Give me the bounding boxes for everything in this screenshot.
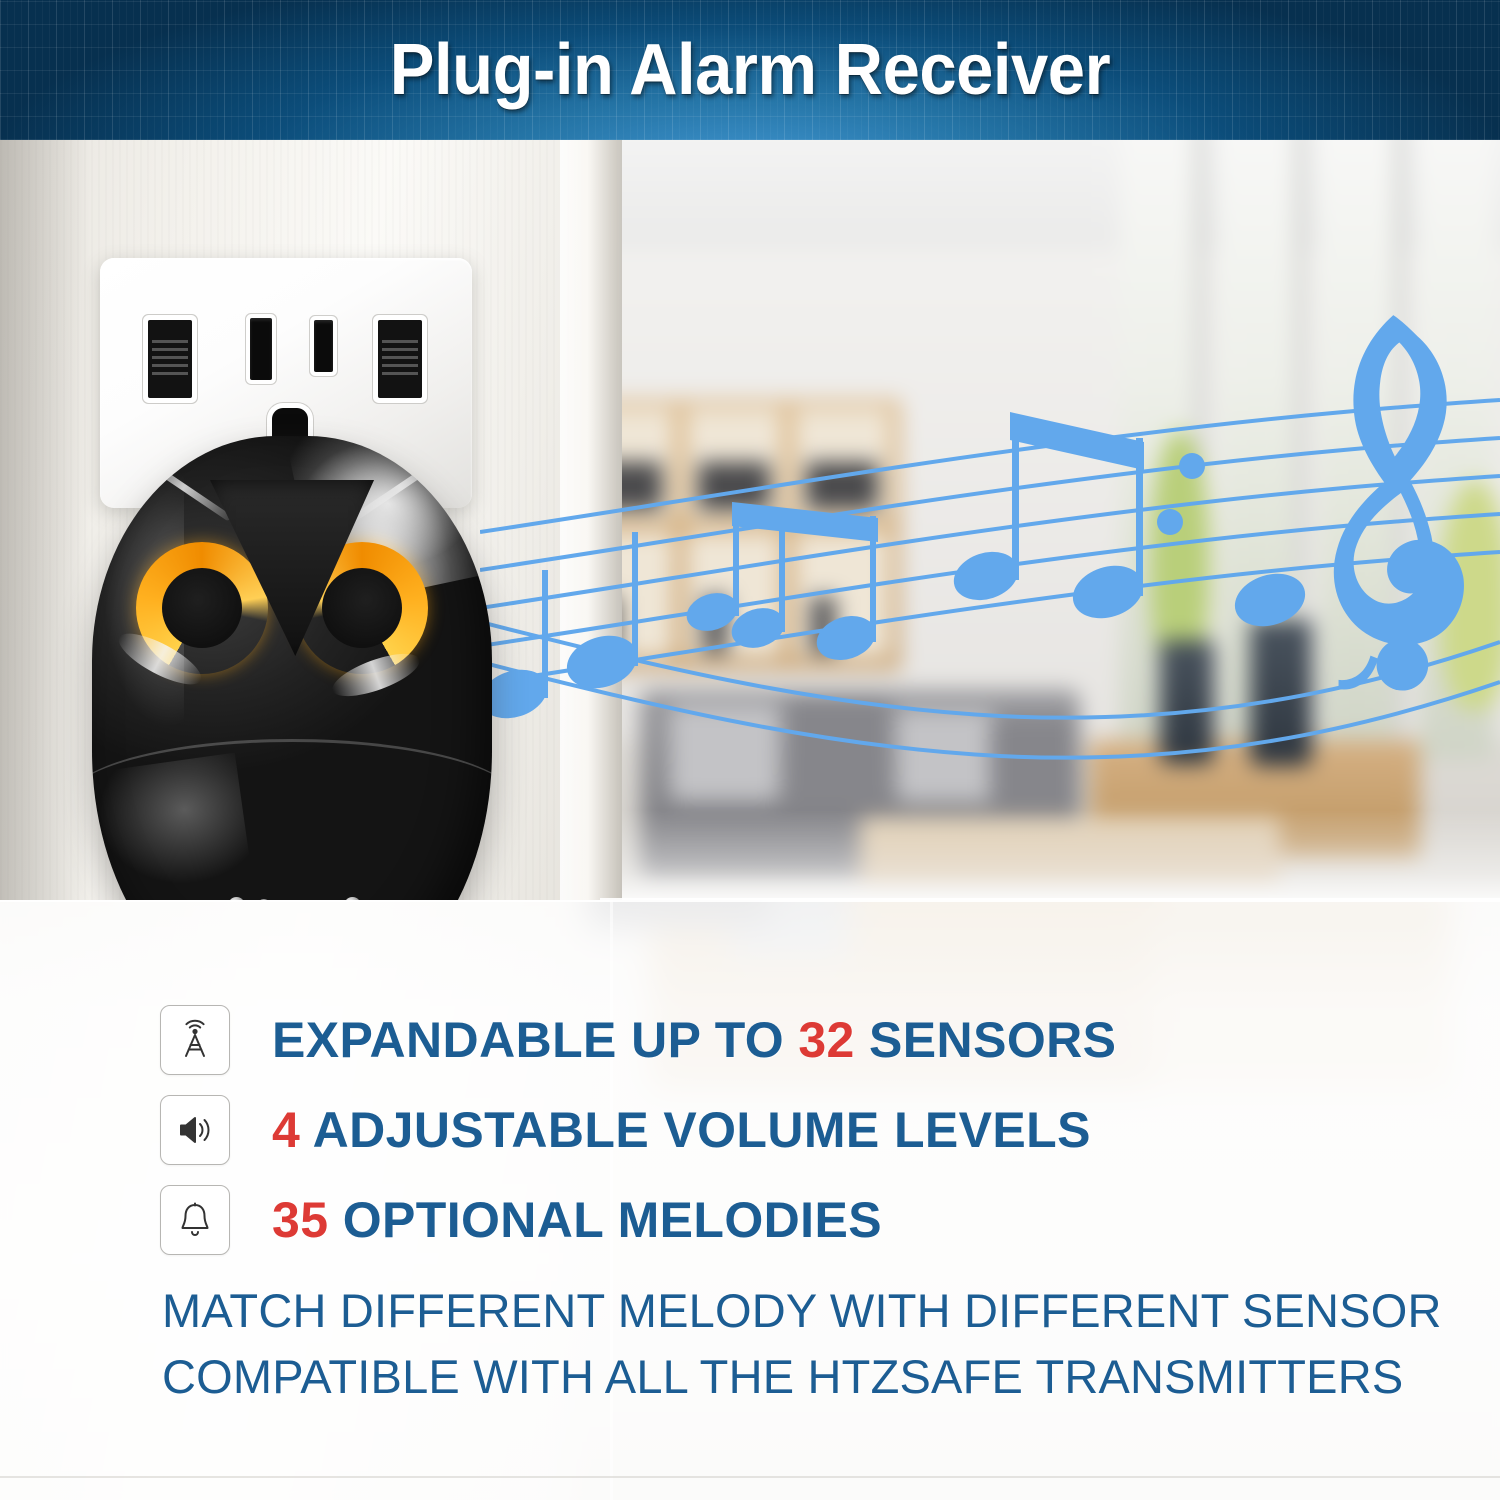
feature-row-volume: 4 ADJUSTABLE VOLUME LEVELS	[160, 1085, 1460, 1175]
cushion	[670, 705, 780, 801]
features-section: EXPANDABLE UP TO 32 SENSORS 4 ADJUSTABLE…	[0, 900, 1500, 1500]
feature-row-sensors: EXPANDABLE UP TO 32 SENSORS	[160, 995, 1460, 1085]
vase	[1160, 640, 1214, 764]
tagline-compatibility: COMPATIBLE WITH ALL THE HTZSAFE TRANSMIT…	[162, 1344, 1482, 1410]
bell-icon	[160, 1185, 230, 1255]
vase	[1250, 620, 1312, 766]
features-bottom-divider	[0, 1476, 1500, 1478]
room-photo-layers	[600, 140, 1500, 900]
cushion	[990, 718, 1076, 804]
ac-blade-slot-left	[250, 318, 272, 380]
cushion	[896, 710, 996, 802]
plant	[1440, 480, 1500, 710]
room-bottom-fade	[600, 810, 1500, 900]
page-title: Plug-in Alarm Receiver	[53, 26, 1448, 114]
wall-shadow	[0, 140, 90, 900]
hero-section	[0, 140, 1500, 900]
usb-pins	[382, 340, 418, 376]
owl-body	[92, 436, 492, 900]
feature-text-sensors: EXPANDABLE UP TO 32 SENSORS	[272, 1010, 1116, 1070]
product-infographic: Plug-in Alarm Receiver	[0, 0, 1500, 1500]
speaker-volume-icon	[160, 1095, 230, 1165]
ac-blade-slot-right	[314, 320, 333, 372]
tagline-block: MATCH DIFFERENT MELODY WITH DIFFERENT SE…	[162, 1278, 1482, 1410]
living-room-photo	[600, 140, 1500, 900]
owl-belly-highlight	[92, 753, 252, 895]
usb-pins	[152, 340, 188, 376]
features-top-divider	[0, 900, 1500, 902]
cushion	[786, 698, 890, 802]
feature-row-melodies: 35 OPTIONAL MELODIES	[160, 1175, 1460, 1265]
wall-corner-edge	[560, 140, 622, 900]
header-banner: Plug-in Alarm Receiver	[0, 0, 1500, 140]
feature-list: EXPANDABLE UP TO 32 SENSORS 4 ADJUSTABLE…	[160, 995, 1460, 1265]
feature-text-melodies: 35 OPTIONAL MELODIES	[272, 1190, 882, 1250]
usb-port-right	[378, 320, 422, 398]
bookshelf	[600, 400, 900, 670]
tagline-melody-match: MATCH DIFFERENT MELODY WITH DIFFERENT SE…	[162, 1278, 1482, 1344]
signal-tower-icon	[160, 1005, 230, 1075]
plug-in-alarm-receiver	[92, 258, 492, 900]
usb-port-left	[148, 320, 192, 398]
feature-text-volume: 4 ADJUSTABLE VOLUME LEVELS	[272, 1100, 1091, 1160]
window-pane	[1320, 140, 1394, 760]
